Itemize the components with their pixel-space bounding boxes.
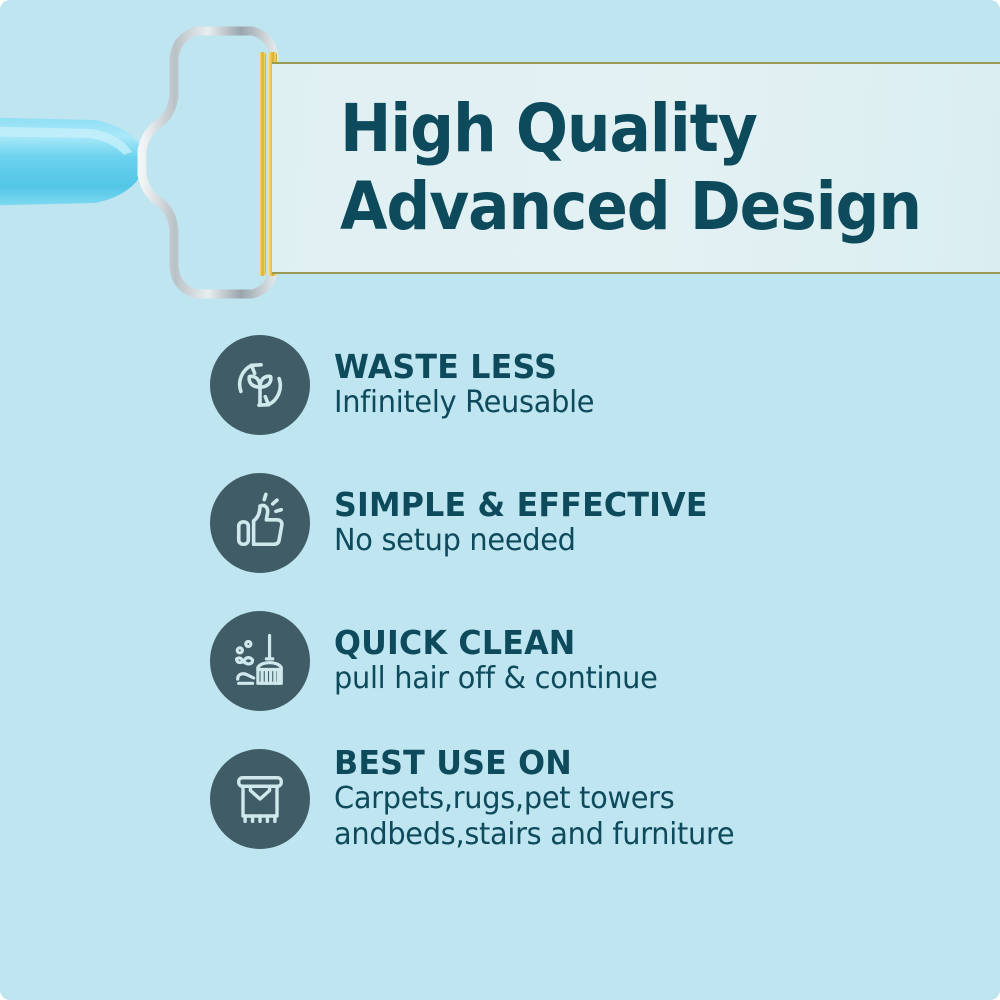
feature-item-waste-less: WASTE LESS Infinitely Reusable	[210, 330, 990, 440]
feature-list: WASTE LESS Infinitely Reusable SIMP	[210, 330, 990, 854]
feature-subtitle: No setup needed	[334, 524, 708, 559]
feature-subtitle-line-2: andbeds,stairs and furniture	[334, 818, 734, 853]
headline-line-1: High Quality	[340, 90, 954, 168]
tool-gold-blade-1	[259, 52, 266, 276]
feature-text: QUICK CLEAN pull hair off & continue	[334, 625, 671, 697]
thumbs-up-icon	[210, 473, 310, 573]
headline-line-2: Advanced Design	[340, 168, 954, 246]
feature-subtitle-line-1: Carpets,rugs,pet towers	[334, 782, 734, 817]
headline-panel: High Quality Advanced Design	[272, 62, 1000, 274]
recycle-sprout-icon	[210, 335, 310, 435]
feature-title: QUICK CLEAN	[334, 625, 658, 662]
feature-subtitle: pull hair off & continue	[334, 662, 658, 697]
tool-steel-frame	[142, 31, 274, 294]
feature-title: SIMPLE & EFFECTIVE	[334, 487, 708, 524]
feature-item-best-use-on: BEST USE ON Carpets,rugs,pet towers andb…	[210, 744, 990, 854]
feature-item-quick-clean: QUICK CLEAN pull hair off & continue	[210, 606, 990, 716]
feature-subtitle: Infinitely Reusable	[334, 386, 594, 421]
broom-sweep-icon	[210, 611, 310, 711]
feature-title: BEST USE ON	[334, 745, 734, 782]
feature-text: BEST USE ON Carpets,rugs,pet towers andb…	[334, 745, 751, 853]
product-infographic: High Quality Advanced Design	[0, 0, 1000, 1000]
feature-title: WASTE LESS	[334, 349, 594, 386]
feature-text: WASTE LESS Infinitely Reusable	[334, 349, 605, 421]
furniture-stool-icon	[210, 749, 310, 849]
tool-handle	[0, 117, 142, 206]
feature-item-simple-effective: SIMPLE & EFFECTIVE No setup needed	[210, 468, 990, 578]
feature-text: SIMPLE & EFFECTIVE No setup needed	[334, 487, 723, 559]
tool-handle-highlight	[0, 126, 132, 155]
